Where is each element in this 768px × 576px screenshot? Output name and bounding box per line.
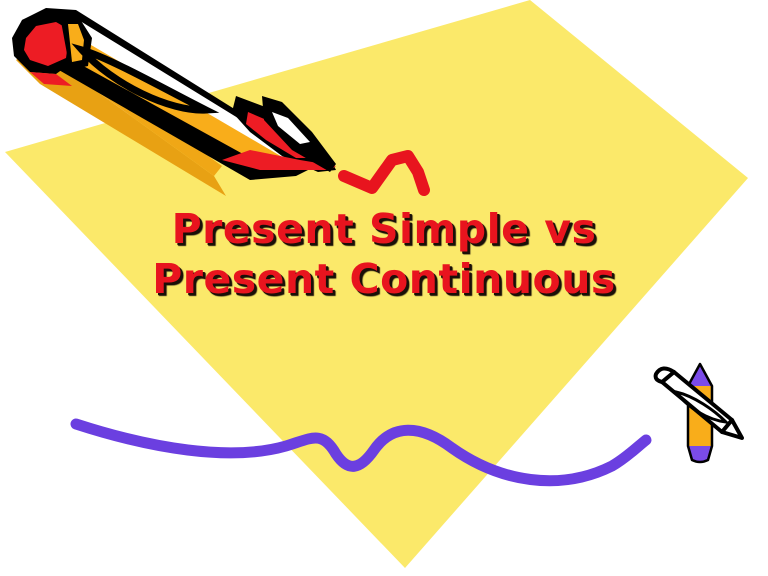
presentation-slide: Present Simple vs Present Continuous xyxy=(0,0,768,576)
slide-artwork xyxy=(0,0,768,576)
